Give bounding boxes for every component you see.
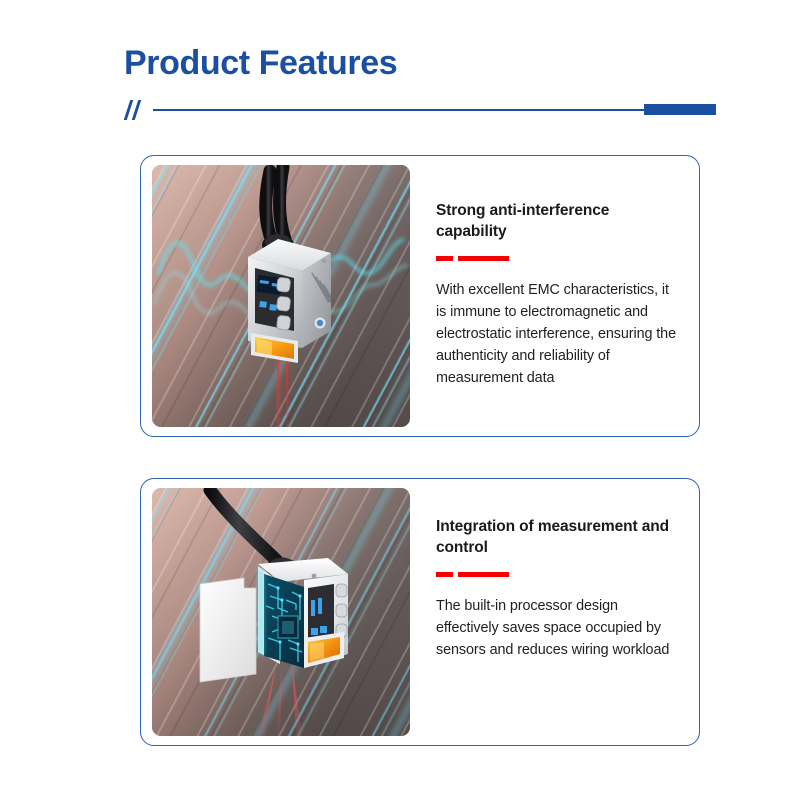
accent-dashes xyxy=(436,572,677,577)
feature-heading: Integration of measurement and control xyxy=(436,517,677,558)
feature-text-block: Strong anti-interference capability With… xyxy=(410,156,699,390)
feature-body-text: The built-in processor design effectivel… xyxy=(436,596,677,662)
divider-end-bar xyxy=(644,104,716,115)
double-slash-icon xyxy=(124,98,150,122)
divider-line xyxy=(153,109,688,111)
feature-card: Integration of measurement and control T… xyxy=(140,478,700,746)
accent-dashes xyxy=(436,256,677,261)
accent-dash-short xyxy=(436,572,453,577)
header-divider xyxy=(124,98,716,122)
feature-card: Strong anti-interference capability With… xyxy=(140,155,700,437)
sensor-cutaway-illustration xyxy=(152,488,410,736)
sensor-product-illustration xyxy=(152,165,410,427)
accent-dash-long xyxy=(458,256,509,261)
page-title: Product Features xyxy=(124,46,397,80)
accent-dash-short xyxy=(436,256,453,261)
feature-text-block: Integration of measurement and control T… xyxy=(410,479,699,662)
feature-image-integration xyxy=(152,488,410,736)
feature-heading: Strong anti-interference capability xyxy=(436,201,677,242)
feature-body-text: With excellent EMC characteristics, it i… xyxy=(436,280,677,389)
feature-image-anti-interference xyxy=(152,165,410,427)
accent-dash-long xyxy=(458,572,509,577)
